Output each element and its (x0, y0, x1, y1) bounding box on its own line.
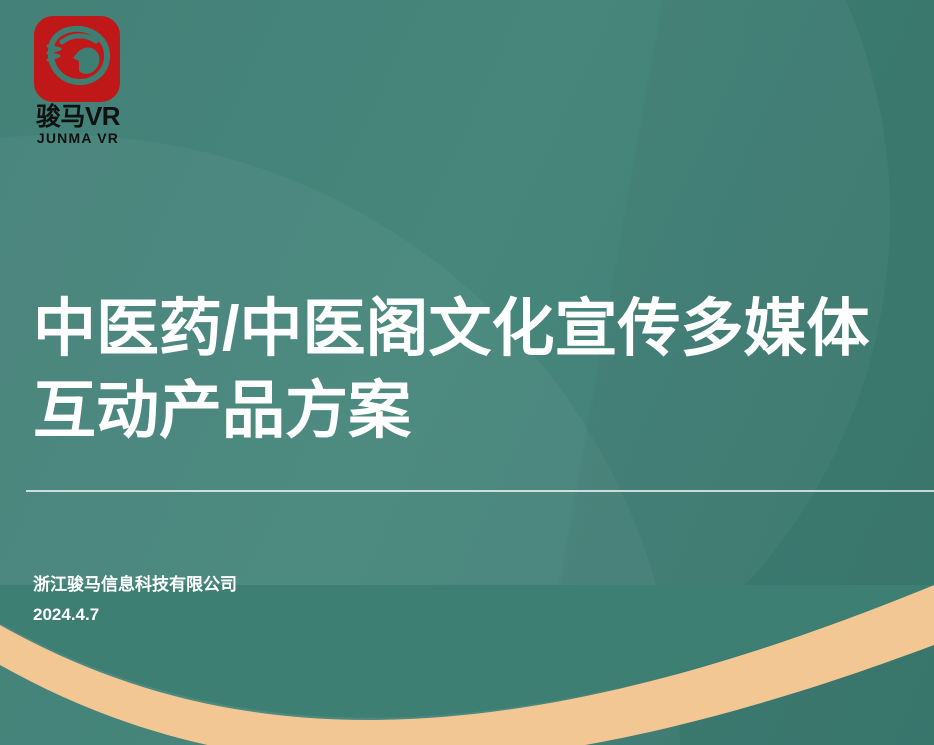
logo-wordmark-en: JUNMA VR (16, 130, 140, 146)
title-divider-rule (26, 490, 934, 492)
logo-wordmark: 骏马VR (16, 103, 140, 130)
page-title: 中医药/中医阁文化宣传多媒体 互动产品方案 (33, 288, 934, 452)
company-name: 浙江骏马信息科技有限公司 (33, 570, 237, 600)
slide-date: 2024.4.7 (33, 600, 237, 630)
page-title-line-1: 中医药/中医阁文化宣传多媒体 (33, 288, 934, 370)
slide-footer: 浙江骏马信息科技有限公司 2024.4.7 (33, 570, 237, 630)
horse-head-logo-icon (34, 16, 120, 102)
brand-logo: 骏马VR JUNMA VR (16, 12, 140, 142)
logo-wordmark-cn: 骏马 (36, 103, 85, 131)
page-title-line-2: 互动产品方案 (33, 370, 934, 452)
logo-wordmark-vr: VR (85, 101, 120, 131)
title-slide: 骏马VR JUNMA VR 中医药/中医阁文化宣传多媒体 互动产品方案 浙江骏马… (0, 0, 934, 745)
